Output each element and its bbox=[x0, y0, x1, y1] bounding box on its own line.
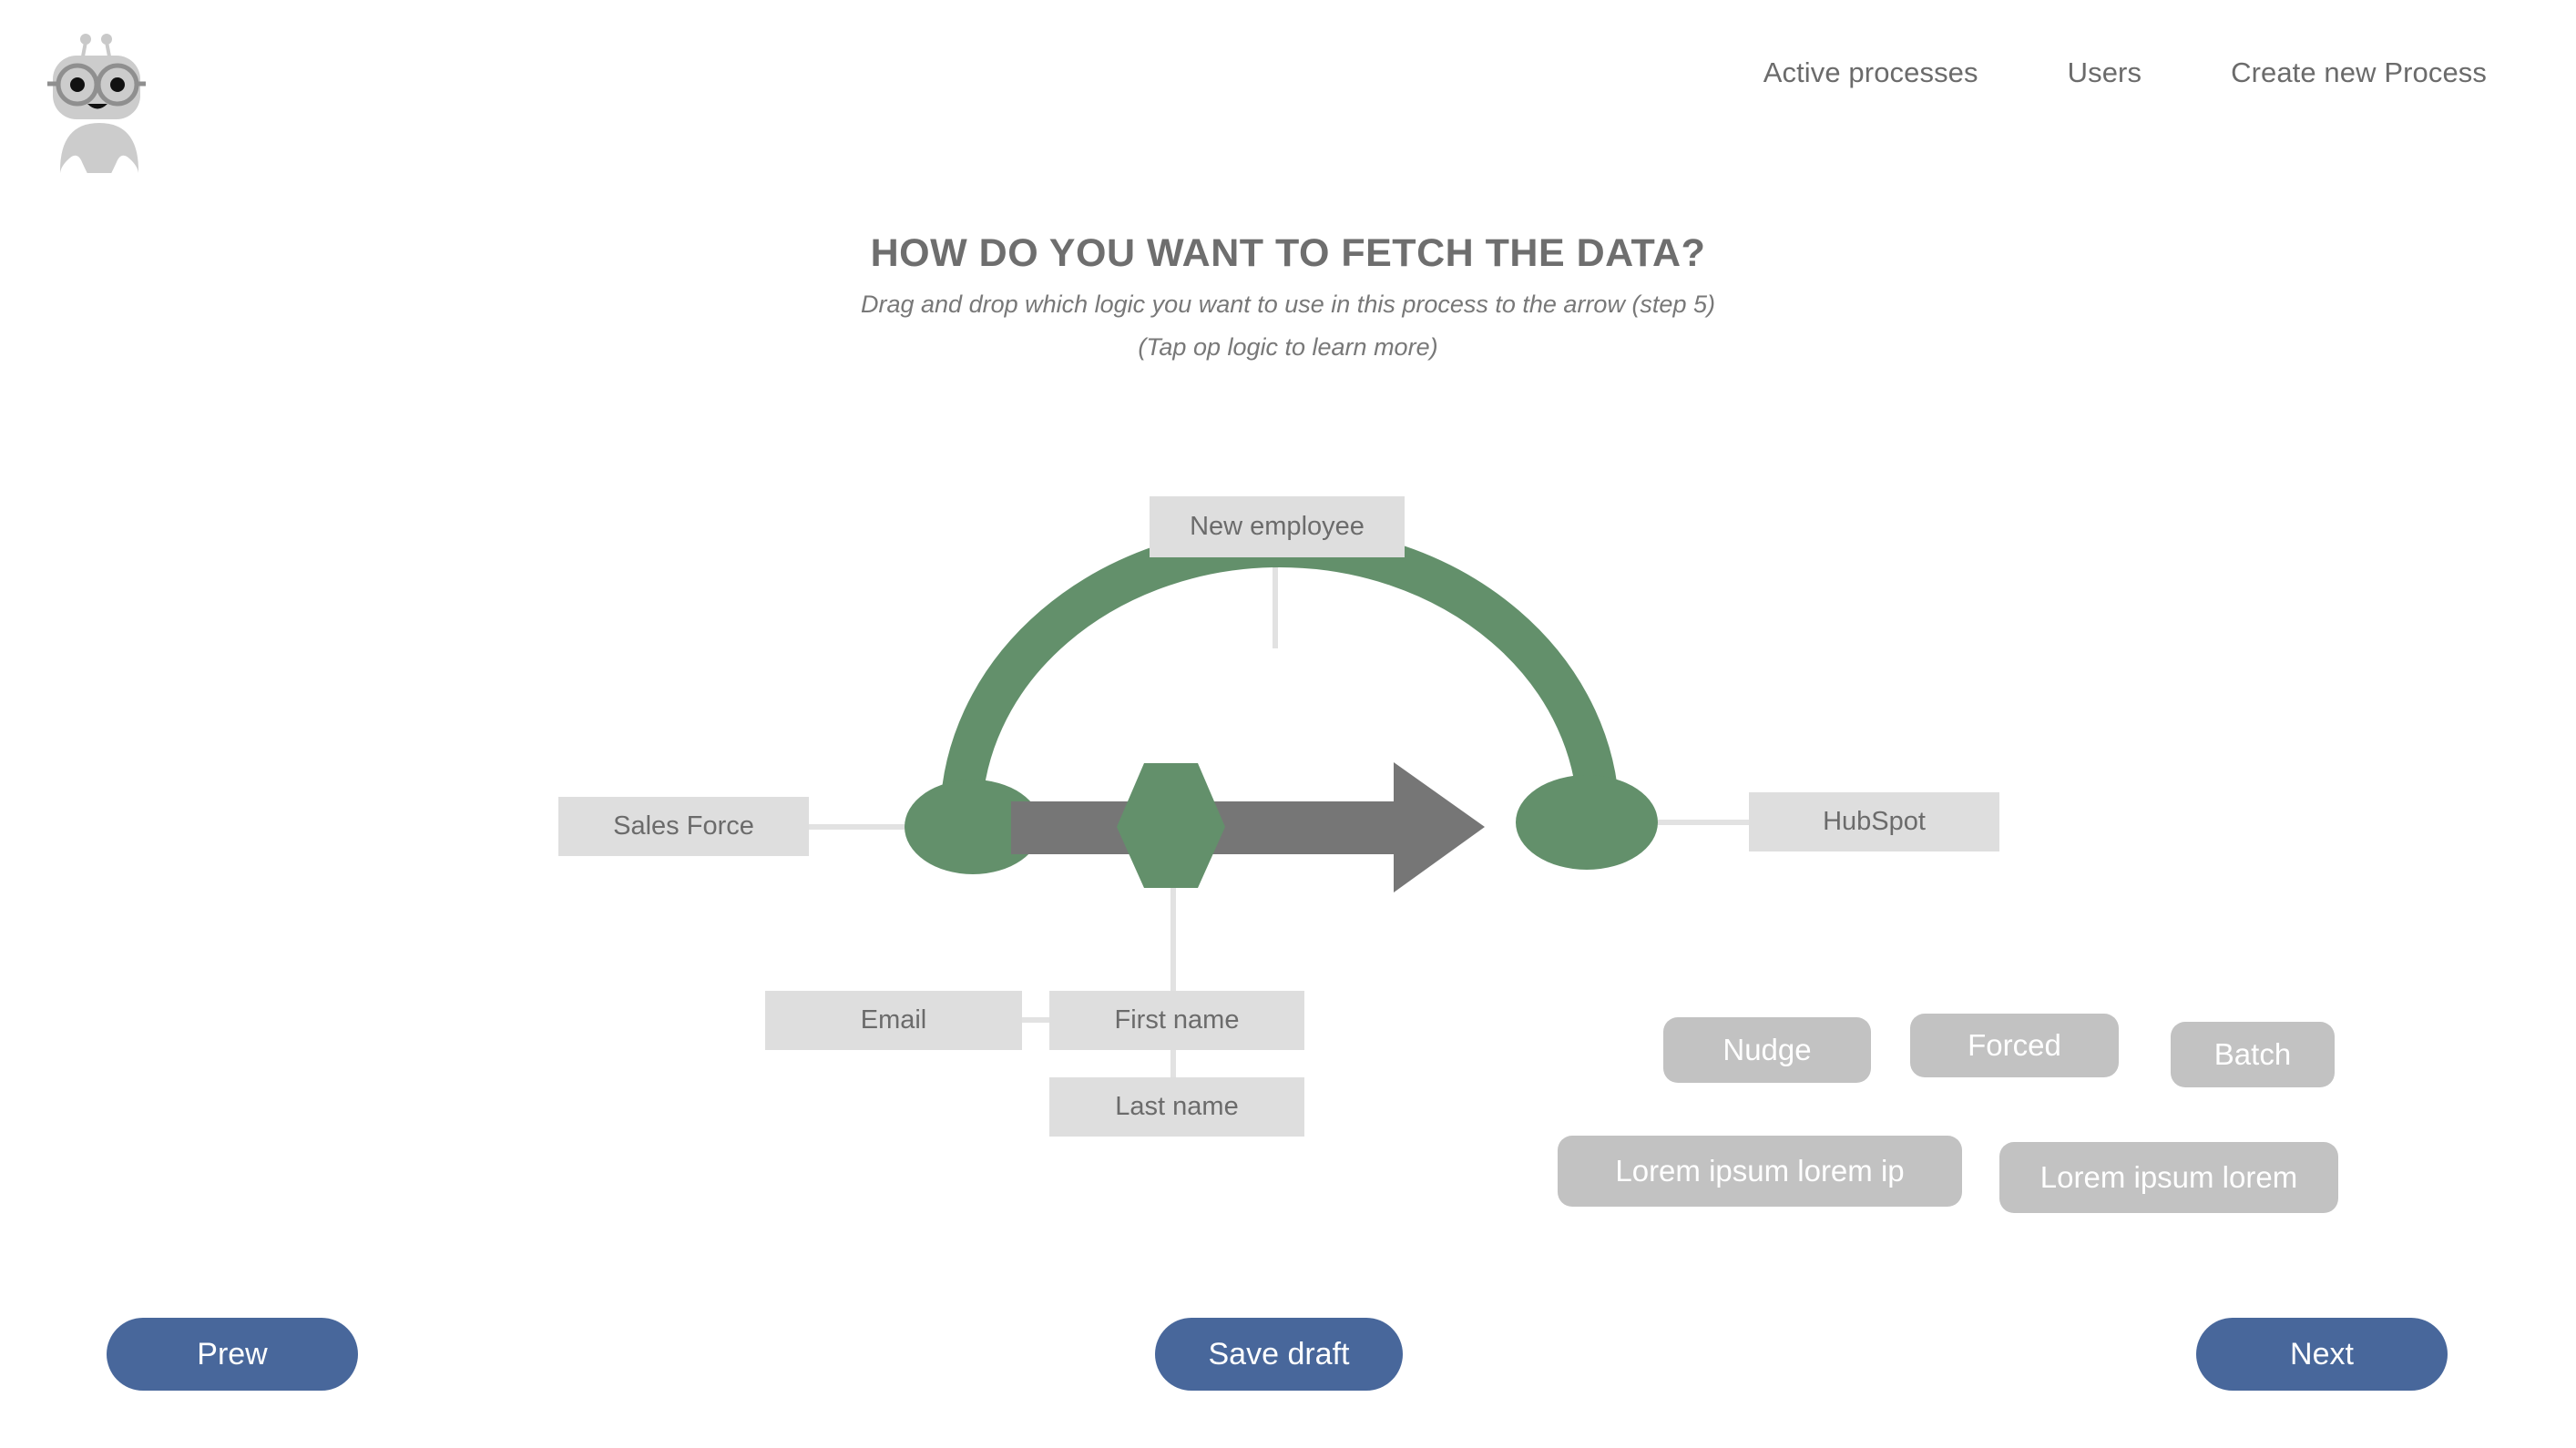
node-new-employee-label: New employee bbox=[1190, 512, 1365, 542]
loop-arc bbox=[961, 546, 1599, 820]
logic-pill-forced[interactable]: Forced bbox=[1910, 1014, 2119, 1077]
prev-button[interactable]: Prew bbox=[107, 1318, 358, 1391]
node-sales-force-label: Sales Force bbox=[613, 811, 754, 841]
save-draft-button-label: Save draft bbox=[1209, 1337, 1350, 1372]
prev-button-label: Prew bbox=[197, 1337, 267, 1372]
flow-arrow bbox=[1011, 762, 1485, 892]
logic-pill-forced-label: Forced bbox=[1968, 1028, 2061, 1063]
next-button[interactable]: Next bbox=[2196, 1318, 2448, 1391]
node-new-employee[interactable]: New employee bbox=[1150, 496, 1405, 557]
node-hubspot-label: HubSpot bbox=[1823, 807, 1926, 837]
node-hubspot[interactable]: HubSpot bbox=[1749, 792, 1999, 851]
logic-pill-batch[interactable]: Batch bbox=[2171, 1022, 2335, 1087]
node-last-name-label: Last name bbox=[1115, 1092, 1238, 1122]
process-diagram: New employee Sales Force HubSpot Email F… bbox=[0, 0, 2576, 1448]
save-draft-button[interactable]: Save draft bbox=[1155, 1318, 1403, 1391]
node-last-name[interactable]: Last name bbox=[1049, 1077, 1304, 1137]
next-button-label: Next bbox=[2290, 1337, 2354, 1372]
logic-pill-nudge-label: Nudge bbox=[1722, 1033, 1811, 1067]
node-email-label: Email bbox=[861, 1005, 927, 1035]
target-node-ellipse bbox=[1516, 775, 1658, 870]
logic-pill-nudge[interactable]: Nudge bbox=[1663, 1017, 1871, 1083]
node-first-name[interactable]: First name bbox=[1049, 991, 1304, 1050]
transform-node-hexagon bbox=[1117, 763, 1225, 888]
logic-pill-lorem-ipsum-lorem[interactable]: Lorem ipsum lorem bbox=[1999, 1142, 2338, 1213]
logic-pill-lorem-ipsum-lorem-label: Lorem ipsum lorem bbox=[2040, 1160, 2297, 1195]
node-first-name-label: First name bbox=[1115, 1005, 1240, 1035]
logic-pill-lorem-ipsum-lorem-ip-label: Lorem ipsum lorem ip bbox=[1615, 1154, 1904, 1188]
node-sales-force[interactable]: Sales Force bbox=[558, 797, 809, 856]
logic-pill-lorem-ipsum-lorem-ip[interactable]: Lorem ipsum lorem ip bbox=[1558, 1136, 1962, 1207]
node-email[interactable]: Email bbox=[765, 991, 1022, 1050]
logic-pill-batch-label: Batch bbox=[2214, 1037, 2291, 1072]
